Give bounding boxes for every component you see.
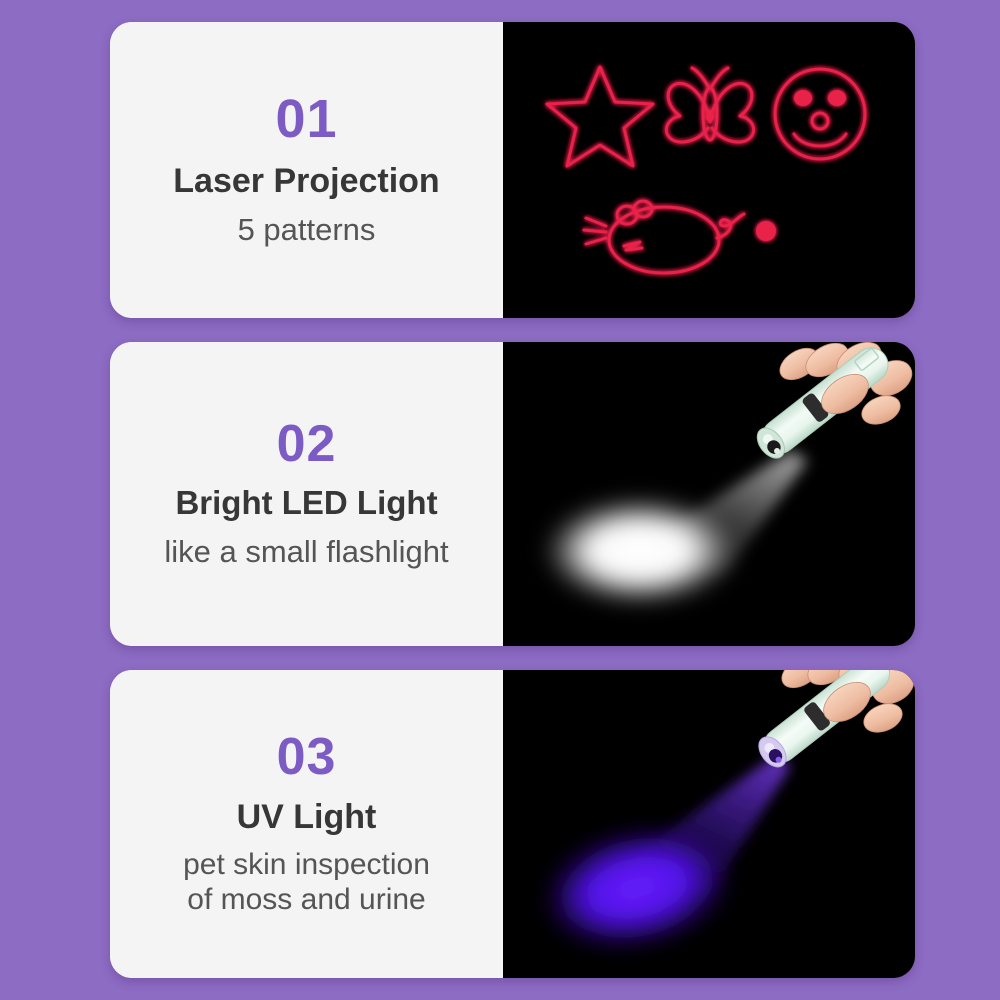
- feature-card-uv-light: 03 UV Light pet skin inspection of moss …: [110, 670, 915, 978]
- pen-illustration: [731, 342, 915, 498]
- card-text-panel: 01 Laser Projection 5 patterns: [110, 22, 503, 318]
- card-subtitle: like a small flashlight: [164, 534, 448, 570]
- card-number: 03: [277, 731, 337, 784]
- led-beam-image: [503, 342, 915, 646]
- card-subtitle-line-1: pet skin inspection: [183, 848, 430, 883]
- feature-card-laser-projection: 01 Laser Projection 5 patterns: [110, 22, 915, 318]
- laser-pattern-group: [503, 22, 915, 318]
- uv-beam-image: [503, 670, 915, 978]
- feature-card-bright-led-light: 02 Bright LED Light like a small flashli…: [110, 342, 915, 646]
- card-number: 02: [277, 418, 337, 471]
- laser-pointer-pen: [731, 670, 915, 804]
- product-feature-poster: 01 Laser Projection 5 patterns: [0, 0, 1000, 1000]
- card-title: Bright LED Light: [175, 485, 437, 522]
- light-pool: [544, 498, 736, 604]
- pen-illustration: [731, 670, 915, 804]
- card-text-panel: 03 UV Light pet skin inspection of moss …: [110, 670, 503, 978]
- card-subtitle: 5 patterns: [238, 212, 376, 248]
- card-number: 01: [275, 92, 337, 147]
- laser-pointer-pen: [731, 342, 915, 498]
- card-title: UV Light: [237, 798, 377, 836]
- laser-patterns-image: [503, 22, 915, 318]
- laser-dot-icon: [756, 221, 776, 241]
- card-text-panel: 02 Bright LED Light like a small flashli…: [110, 342, 503, 646]
- card-subtitle-line-2: of moss and urine: [183, 883, 430, 918]
- card-title: Laser Projection: [173, 162, 439, 200]
- card-subtitle: pet skin inspection of moss and urine: [183, 848, 430, 918]
